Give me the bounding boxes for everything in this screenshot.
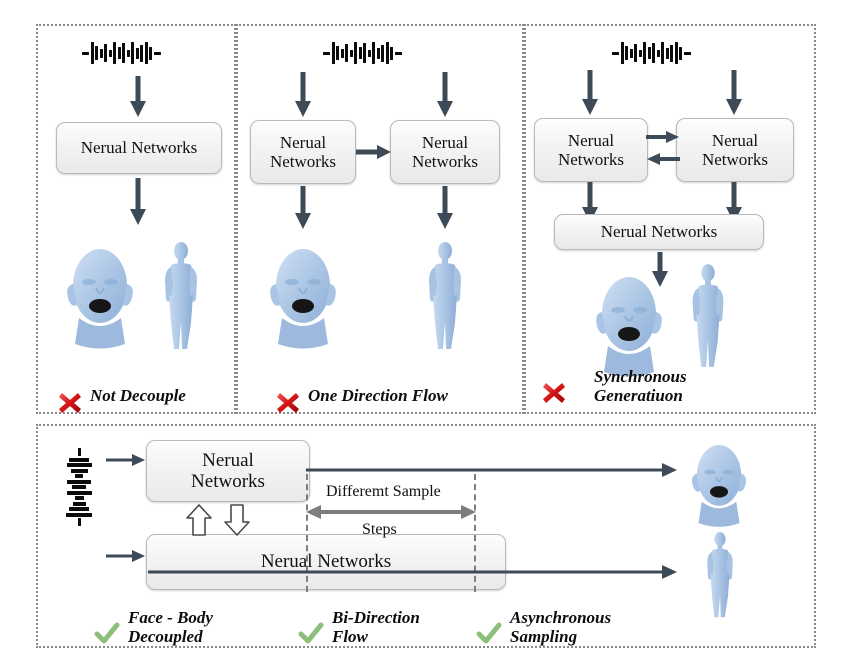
audio-waveform-icon	[323, 40, 402, 66]
arrow-face-to-output	[306, 462, 678, 478]
arrow-body-to-output	[435, 186, 455, 230]
arrow-input-to-nn-right	[724, 70, 744, 116]
arrow-nn-to-output	[128, 178, 148, 226]
arrow-body-to-face	[646, 152, 680, 166]
verdict-label: Face - Body Decoupled	[128, 608, 213, 646]
hollow-arrow-down	[224, 504, 250, 536]
arrow-audio-to-face-branch	[106, 452, 146, 468]
nn-box-body[interactable]: Nerual Networks	[676, 118, 794, 182]
body-avatar	[156, 242, 206, 350]
verdict-face-body-decoupled: Face - Body Decoupled	[94, 602, 213, 651]
verdict-bi-direction-flow: Bi-Direction Flow	[298, 602, 420, 651]
nn-box-body[interactable]: Nerual Networks	[390, 120, 500, 184]
panel-one-direction-flow: Nerual Networks Nerual Networks	[236, 24, 524, 414]
audio-waveform-vertical-icon	[64, 448, 94, 526]
panel-proposed-method: Nerual Networks Nerual Networks Differem…	[36, 424, 816, 648]
body-avatar	[684, 264, 732, 368]
face-avatar	[60, 238, 140, 350]
verdict-one-direction-flow: One Direction Flow	[276, 372, 448, 419]
face-avatar	[686, 436, 752, 528]
panel-not-decouple: Nerual Networks	[36, 24, 236, 414]
verdict-asynchronous-sampling: Asynchronous Sampling	[476, 602, 611, 651]
verdict-label: Synchronous Generatiuon	[594, 367, 687, 405]
verdict-not-decouple: Not Decouple	[58, 372, 186, 419]
panel-synchronous-generation: Nerual Networks Nerual Networks Nerual N…	[524, 24, 816, 414]
arrow-input-to-nn-right	[435, 72, 455, 118]
red-cross-icon	[276, 372, 300, 419]
nn-box-body-branch[interactable]: Nerual Networks	[146, 534, 506, 590]
arrow-audio-to-body-branch	[106, 548, 146, 564]
verdict-label: Bi-Direction Flow	[332, 608, 420, 646]
arrow-body-to-output	[148, 564, 678, 580]
audio-waveform-icon	[612, 40, 691, 66]
verdict-label: Asynchronous Sampling	[510, 608, 611, 646]
body-avatar	[700, 532, 740, 618]
verdict-label: One Direction Flow	[308, 386, 448, 405]
annotation-line-1: Differemt Sample	[326, 483, 441, 501]
body-avatar	[420, 242, 470, 350]
arrow-input-to-nn-left	[580, 70, 600, 116]
nn-box-face[interactable]: Nerual Networks	[534, 118, 648, 182]
hollow-arrow-up	[186, 504, 212, 536]
green-check-icon	[298, 602, 324, 651]
arrow-input-to-nn-left	[293, 72, 313, 118]
verdict-label: Not Decouple	[90, 386, 186, 405]
nn-box-face[interactable]: Nerual Networks	[250, 120, 356, 184]
red-cross-icon	[542, 362, 566, 409]
green-check-icon	[476, 602, 502, 651]
arrow-input-to-nn	[128, 76, 148, 118]
annotation-line-2: Steps	[362, 521, 397, 539]
nn-box-face-branch[interactable]: Nerual Networks	[146, 440, 310, 502]
arrow-face-to-body	[646, 130, 680, 144]
audio-waveform-icon	[82, 40, 161, 66]
verdict-synchronous-generation: Synchronous Generatiuon	[542, 362, 687, 409]
face-avatar	[263, 238, 343, 350]
green-check-icon	[94, 602, 120, 651]
nn-box-main[interactable]: Nerual Networks	[56, 122, 222, 174]
arrow-face-to-body	[356, 144, 392, 160]
arrow-face-to-output	[293, 186, 313, 230]
nn-box-fusion[interactable]: Nerual Networks	[554, 214, 764, 250]
double-headed-arrow-sample-steps	[306, 504, 476, 520]
red-cross-icon	[58, 372, 82, 419]
